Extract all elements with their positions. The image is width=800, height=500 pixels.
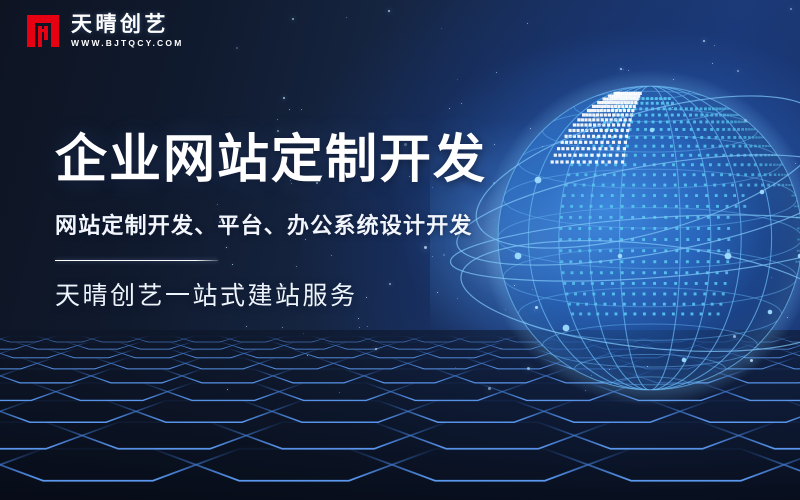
divider: [55, 260, 218, 262]
page-title: 企业网站定制开发: [55, 132, 525, 190]
brand-logo[interactable]: 天晴创艺 WWW.BJTQCY.COM: [24, 12, 184, 50]
tagline: 天晴创艺一站式建站服务: [55, 281, 525, 312]
headline-block: 企业网站定制开发 网站定制开发、平台、办公系统设计开发 天晴创艺一站式建站服务: [55, 132, 525, 312]
logo-company-name: 天晴创艺: [71, 14, 184, 36]
promotional-banner: 天晴创艺 WWW.BJTQCY.COM 企业网站定制开发 网站定制开发、平台、办…: [0, 0, 800, 500]
subheadline: 网站定制开发、平台、办公系统设计开发: [55, 212, 525, 240]
logo-website-url: WWW.BJTQCY.COM: [71, 39, 184, 48]
tianqing-chuangyi-logo-mark-icon: [24, 12, 62, 50]
